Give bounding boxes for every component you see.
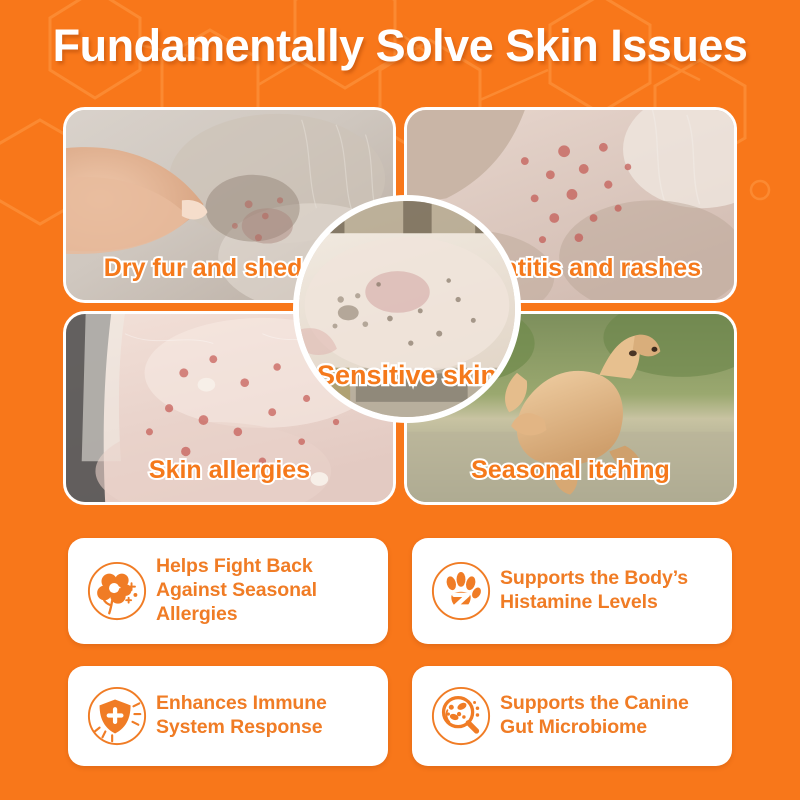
photo-tile-sensitive-skin[interactable]: Sensitive skin xyxy=(293,195,521,423)
benefit-card-microbiome[interactable]: Supports the Canine Gut Microbiome xyxy=(412,666,732,766)
shield-plus-icon xyxy=(86,685,148,747)
skin-issues-poster: Fundamentally Solve Skin Issues xyxy=(0,0,800,800)
caption-seasonal-itching: Seasonal itching xyxy=(407,456,734,484)
caption-sensitive-skin: Sensitive skin xyxy=(299,361,515,391)
benefit-label: Helps Fight Back Against Seasonal Allerg… xyxy=(156,555,376,626)
caption-skin-allergies: Skin allergies xyxy=(66,456,393,484)
paw-z-icon xyxy=(430,560,492,622)
benefit-card-list: Helps Fight Back Against Seasonal Allerg… xyxy=(68,538,732,768)
benefit-card-immune[interactable]: Enhances Immune System Response xyxy=(68,666,388,766)
benefit-label: Enhances Immune System Response xyxy=(156,692,376,740)
benefit-label: Supports the Body’s Histamine Levels xyxy=(500,567,720,615)
benefit-label: Supports the Canine Gut Microbiome xyxy=(500,692,720,740)
magnifier-microbe-icon xyxy=(430,685,492,747)
benefit-card-histamine[interactable]: Supports the Body’s Histamine Levels xyxy=(412,538,732,644)
page-title: Fundamentally Solve Skin Issues xyxy=(0,20,800,72)
benefit-card-seasonal-allergies[interactable]: Helps Fight Back Against Seasonal Allerg… xyxy=(68,538,388,644)
flower-pollen-icon xyxy=(86,560,148,622)
